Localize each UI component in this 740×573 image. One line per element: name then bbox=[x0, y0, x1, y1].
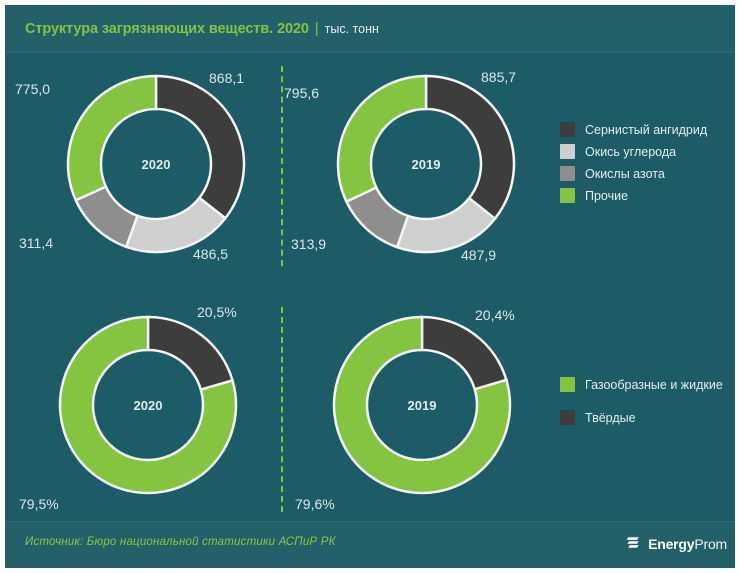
logo-text-secondary: Prom bbox=[694, 536, 727, 552]
legend-item: Твёрдые bbox=[560, 410, 723, 425]
legend-states: Газообразные и жидкие Твёрдые bbox=[560, 377, 723, 443]
vertical-divider-bottom bbox=[281, 307, 283, 512]
donut-chart-svg bbox=[61, 69, 251, 259]
footer-bar: Источник: Бюро национальной статистики А… bbox=[5, 521, 740, 568]
donut-substances-2019: 2019 885,7 487,9 313,9 795,6 bbox=[331, 69, 521, 259]
slice-value-label: 79,5% bbox=[19, 496, 59, 512]
slice-value-label: 486,5 bbox=[193, 246, 228, 262]
donut-slice bbox=[397, 198, 495, 252]
infographic-root: Структура загрязняющих веществ. 2020 | т… bbox=[0, 0, 740, 573]
slice-value-label: 868,1 bbox=[209, 70, 244, 86]
legend-item-label: Прочие bbox=[585, 189, 628, 203]
energyprom-logo-icon bbox=[625, 535, 642, 552]
page-title: Структура загрязняющих веществ. 2020 bbox=[25, 21, 309, 37]
legend-item: Окись углерода bbox=[560, 144, 707, 159]
logo-wordmark: EnergyProm bbox=[648, 536, 727, 552]
vertical-divider-top bbox=[281, 66, 283, 266]
legend-item: Сернистый ангидрид bbox=[560, 122, 707, 137]
legend-swatch-icon bbox=[560, 166, 575, 181]
legend-item-label: Сернистый ангидрид bbox=[585, 123, 707, 137]
donut-slice bbox=[422, 317, 506, 389]
slice-value-label: 885,7 bbox=[481, 69, 516, 85]
legend-item-label: Окислы азота bbox=[585, 167, 665, 181]
donut-chart-svg bbox=[327, 310, 517, 500]
legend-swatch-icon bbox=[560, 410, 575, 425]
header-title-group: Структура загрязняющих веществ. 2020 | т… bbox=[25, 5, 379, 52]
legend-swatch-icon bbox=[560, 144, 575, 159]
donut-states-2020: 2020 20,5% 79,5% bbox=[53, 310, 243, 500]
donut-slice bbox=[68, 76, 156, 200]
legend-swatch-icon bbox=[560, 377, 575, 392]
legend-swatch-icon bbox=[560, 122, 575, 137]
donut-slice bbox=[126, 198, 225, 252]
legend-item: Прочие bbox=[560, 188, 707, 203]
chart-canvas: 2020 868,1 486,5 311,4 775,0 2019 885,7 … bbox=[5, 52, 740, 524]
brand-logo: EnergyProm bbox=[625, 535, 727, 552]
title-unit: тыс. тонн bbox=[325, 22, 379, 36]
donut-slice bbox=[148, 317, 233, 390]
donut-slice bbox=[338, 76, 426, 202]
legend-item-label: Окись углерода bbox=[585, 145, 676, 159]
donut-substances-2020: 2020 868,1 486,5 311,4 775,0 bbox=[61, 69, 251, 259]
slice-value-label: 775,0 bbox=[15, 81, 50, 97]
legend-substances: Сернистый ангидрид Окись углерода Окислы… bbox=[560, 122, 707, 210]
slice-value-label: 313,9 bbox=[291, 236, 326, 252]
slice-value-label: 311,4 bbox=[19, 235, 53, 251]
donut-states-2019: 2019 20,4% 79,6% bbox=[327, 310, 517, 500]
slice-value-label: 20,5% bbox=[197, 304, 237, 320]
source-note: Источник: Бюро национальной статистики А… bbox=[25, 536, 336, 548]
slice-value-label: 79,6% bbox=[295, 496, 335, 512]
slice-value-label: 487,9 bbox=[461, 247, 496, 263]
legend-item-label: Газообразные и жидкие bbox=[585, 378, 723, 392]
slice-value-label: 795,6 bbox=[284, 85, 319, 101]
title-separator: | bbox=[315, 21, 319, 37]
logo-text-primary: Energy bbox=[648, 536, 694, 552]
legend-item: Газообразные и жидкие bbox=[560, 377, 723, 392]
donut-chart-svg bbox=[331, 69, 521, 259]
header-bar: Структура загрязняющих веществ. 2020 | т… bbox=[5, 5, 740, 53]
slice-value-label: 20,4% bbox=[475, 307, 515, 323]
donut-chart-svg bbox=[53, 310, 243, 500]
legend-item-label: Твёрдые bbox=[585, 411, 636, 425]
legend-item: Окислы азота bbox=[560, 166, 707, 181]
donut-slice bbox=[426, 76, 514, 219]
legend-swatch-icon bbox=[560, 188, 575, 203]
